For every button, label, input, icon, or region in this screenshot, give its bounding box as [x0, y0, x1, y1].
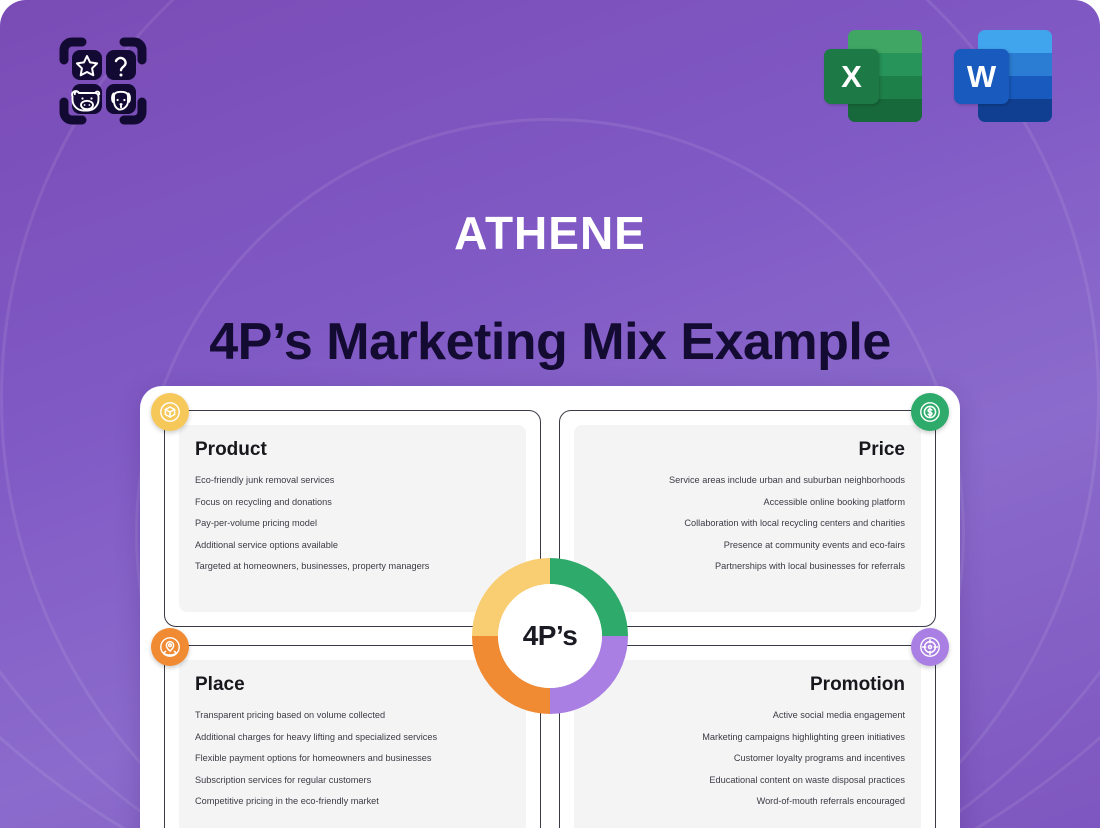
list-item: Subscription services for regular custom…: [195, 775, 510, 787]
list-item: Additional service options available: [195, 540, 510, 552]
quadrant-price-title: Price: [590, 439, 905, 461]
list-item: Word-of-mouth referrals encouraged: [590, 796, 905, 808]
quadrant-promotion-list: Active social media engagement Marketing…: [590, 710, 905, 818]
brand-name: ATHENE: [0, 206, 1100, 260]
list-item: Service areas include urban and suburban…: [590, 475, 905, 487]
page-title: 4P’s Marketing Mix Example: [0, 312, 1100, 372]
list-item: Collaboration with local recycling cente…: [590, 518, 905, 530]
quadrant-grid: Product Eco-friendly junk removal servic…: [164, 410, 936, 828]
logo-svg: [52, 30, 154, 132]
excel-badge-letter: X: [824, 49, 879, 104]
four-p-diagram-card: Product Eco-friendly junk removal servic…: [140, 386, 960, 828]
list-item: Educational content on waste disposal pr…: [590, 775, 905, 787]
list-item: Eco-friendly junk removal services: [195, 475, 510, 487]
list-item: Partnerships with local businesses for r…: [590, 561, 905, 573]
word-icon[interactable]: W: [954, 30, 1052, 122]
list-item: Targeted at homeowners, businesses, prop…: [195, 561, 510, 573]
quadrant-product-list: Eco-friendly junk removal services Focus…: [195, 475, 510, 583]
quadrant-price-list: Service areas include urban and suburban…: [590, 475, 905, 583]
excel-icon[interactable]: X: [824, 30, 922, 122]
quadrant-place-title: Place: [195, 674, 510, 696]
donut-center-label: 4P’s: [498, 584, 602, 688]
list-item: Pay-per-volume pricing model: [195, 518, 510, 530]
target-crosshair-icon: [911, 628, 949, 666]
list-item: Marketing campaigns highlighting green i…: [590, 732, 905, 744]
list-item: Customer loyalty programs and incentives: [590, 753, 905, 765]
list-item: Additional charges for heavy lifting and…: [195, 732, 510, 744]
slide-canvas: X W ATHENE 4P’s Marketing Mix Example: [0, 0, 1100, 828]
location-pin-icon: [151, 628, 189, 666]
star-tile: [72, 50, 102, 80]
list-item: Flexible payment options for homeowners …: [195, 753, 510, 765]
word-badge-letter: W: [954, 49, 1009, 104]
list-item: Focus on recycling and donations: [195, 497, 510, 509]
office-app-icons: X W: [824, 30, 1052, 122]
quadrant-place-list: Transparent pricing based on volume coll…: [195, 710, 510, 818]
quadrant-promotion-title: Promotion: [590, 674, 905, 696]
list-item: Accessible online booking platform: [590, 497, 905, 509]
list-item: Presence at community events and eco-fai…: [590, 540, 905, 552]
list-item: Active social media engagement: [590, 710, 905, 722]
package-box-icon: [151, 393, 189, 431]
list-item: Transparent pricing based on volume coll…: [195, 710, 510, 722]
list-item: Competitive pricing in the eco-friendly …: [195, 796, 510, 808]
dollar-coin-icon: [911, 393, 949, 431]
athene-scanner-logo[interactable]: [52, 30, 154, 132]
quadrant-product-title: Product: [195, 439, 510, 461]
four-p-donut-chart: 4P’s: [467, 553, 633, 719]
